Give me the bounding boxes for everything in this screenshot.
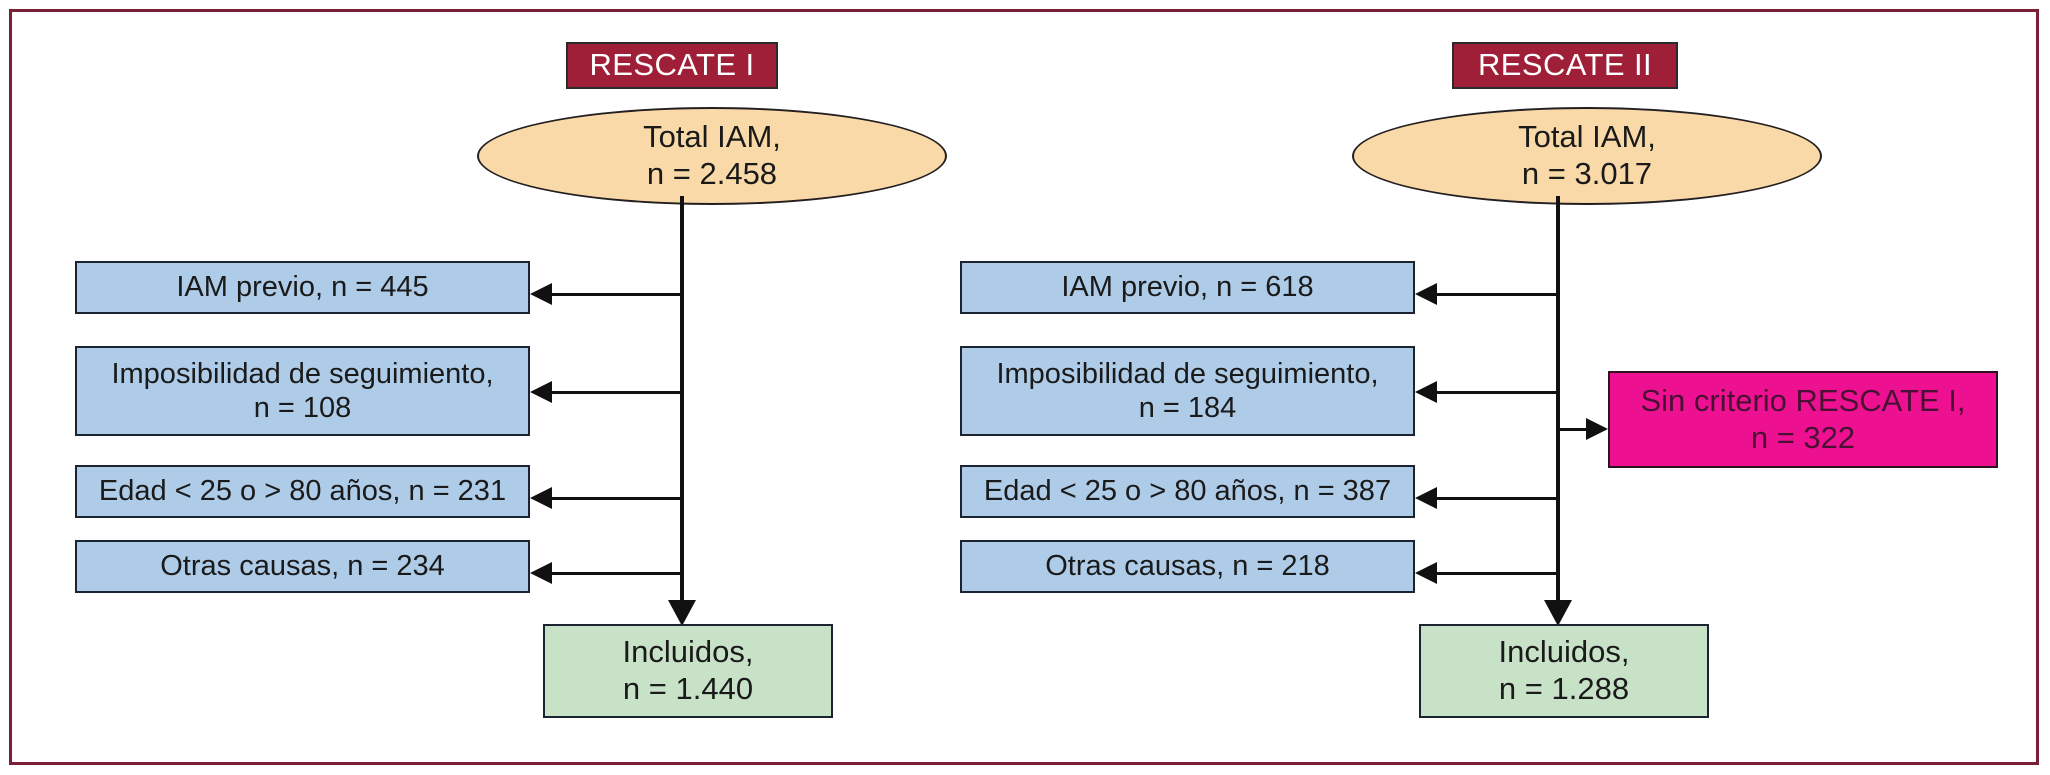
exclusion-box-1-rescate-2: IAM previo, n = 618 bbox=[960, 261, 1415, 314]
ellipse-total-rescate-1: Total IAM, n = 2.458 bbox=[477, 107, 947, 205]
flowchart-canvas: RESCATE I Total IAM, n = 2.458 IAM previ… bbox=[0, 0, 2050, 775]
branch-line-2-rescate-2 bbox=[1437, 391, 1558, 394]
flowchart-figure: RESCATE I Total IAM, n = 2.458 IAM previ… bbox=[0, 0, 2050, 775]
branch-line-3-rescate-1 bbox=[552, 497, 682, 500]
branch-arrowhead-3-rescate-1 bbox=[530, 487, 552, 509]
exclusion-box-2-rescate-1: Imposibilidad de seguimiento, n = 108 bbox=[75, 346, 530, 436]
branch-arrowhead-2-rescate-2 bbox=[1415, 381, 1437, 403]
branch-line-4-rescate-1 bbox=[552, 572, 682, 575]
side-note-arrowhead-rescate-2 bbox=[1586, 418, 1608, 440]
trunk-arrowhead-rescate-1 bbox=[668, 600, 696, 626]
exclusion-box-1-rescate-1: IAM previo, n = 445 bbox=[75, 261, 530, 314]
branch-arrowhead-4-rescate-2 bbox=[1415, 562, 1437, 584]
exclusion-box-3-rescate-1: Edad < 25 o > 80 años, n = 231 bbox=[75, 465, 530, 518]
branch-arrowhead-1-rescate-1 bbox=[530, 283, 552, 305]
included-box-rescate-2: Incluidos, n = 1.288 bbox=[1419, 624, 1709, 718]
branch-line-2-rescate-1 bbox=[552, 391, 682, 394]
trunk-line-rescate-1 bbox=[680, 196, 684, 616]
side-note-box-rescate-2: Sin criterio RESCATE I, n = 322 bbox=[1608, 371, 1998, 468]
exclusion-box-4-rescate-1: Otras causas, n = 234 bbox=[75, 540, 530, 593]
trunk-arrowhead-rescate-2 bbox=[1544, 600, 1572, 626]
exclusion-box-4-rescate-2: Otras causas, n = 218 bbox=[960, 540, 1415, 593]
side-note-line-rescate-2 bbox=[1560, 428, 1586, 431]
banner-rescate-2: RESCATE II bbox=[1452, 42, 1678, 89]
exclusion-box-2-rescate-2: Imposibilidad de seguimiento, n = 184 bbox=[960, 346, 1415, 436]
branch-arrowhead-2-rescate-1 bbox=[530, 381, 552, 403]
branch-arrowhead-3-rescate-2 bbox=[1415, 487, 1437, 509]
banner-rescate-1: RESCATE I bbox=[566, 42, 778, 89]
exclusion-box-3-rescate-2: Edad < 25 o > 80 años, n = 387 bbox=[960, 465, 1415, 518]
branch-line-4-rescate-2 bbox=[1437, 572, 1558, 575]
included-box-rescate-1: Incluidos, n = 1.440 bbox=[543, 624, 833, 718]
branch-line-1-rescate-1 bbox=[552, 293, 682, 296]
branch-arrowhead-1-rescate-2 bbox=[1415, 283, 1437, 305]
ellipse-total-rescate-2: Total IAM, n = 3.017 bbox=[1352, 107, 1822, 205]
branch-line-3-rescate-2 bbox=[1437, 497, 1558, 500]
branch-arrowhead-4-rescate-1 bbox=[530, 562, 552, 584]
trunk-line-rescate-2 bbox=[1556, 196, 1560, 616]
branch-line-1-rescate-2 bbox=[1437, 293, 1558, 296]
